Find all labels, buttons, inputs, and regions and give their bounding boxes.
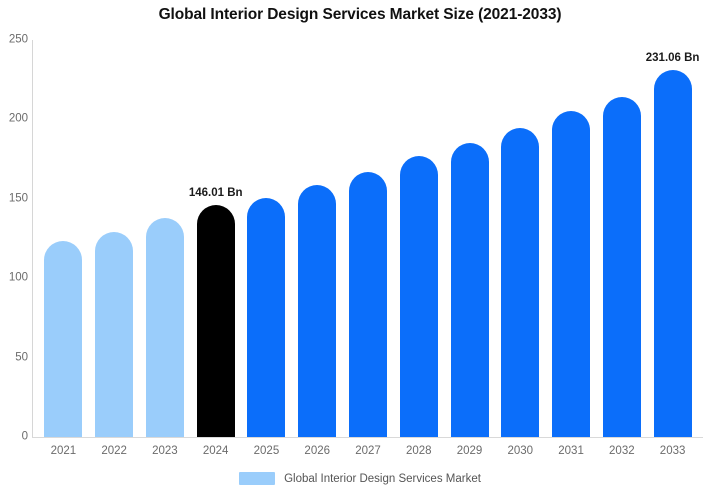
bar-2030[interactable]: [501, 128, 539, 437]
bar-2026[interactable]: [298, 185, 336, 437]
bar-2027[interactable]: [349, 172, 387, 437]
x-axis-tick-2024: 2024: [190, 443, 241, 459]
bar-group-2025[interactable]: [247, 40, 285, 437]
x-axis-line: [32, 437, 703, 438]
y-axis-tick-0: 0: [2, 431, 28, 443]
bar-2031[interactable]: [552, 111, 590, 437]
x-axis-tick-2021: 2021: [38, 443, 89, 459]
x-axis-tick-2032: 2032: [596, 443, 647, 459]
bar-value-label-2033: 231.06 Bn: [646, 52, 700, 64]
chart-legend: Global Interior Design Services Market: [0, 472, 720, 485]
y-axis-tick-100: 100: [2, 272, 28, 284]
bar-group-2028[interactable]: [400, 40, 438, 437]
bar-group-2032[interactable]: [603, 40, 641, 437]
x-axis-tick-2029: 2029: [444, 443, 495, 459]
legend-swatch-icon: [239, 472, 275, 485]
bar-group-2033[interactable]: 231.06 Bn: [654, 40, 692, 437]
y-axis-tick-50: 50: [2, 352, 28, 364]
bar-2023[interactable]: [146, 218, 184, 437]
bar-group-2021[interactable]: [44, 40, 82, 437]
chart-container: Global Interior Design Services Market S…: [0, 0, 720, 500]
bar-group-2026[interactable]: [298, 40, 336, 437]
bar-group-2031[interactable]: [552, 40, 590, 437]
y-axis-tick-150: 150: [2, 193, 28, 205]
chart-title: Global Interior Design Services Market S…: [0, 6, 720, 24]
bar-group-2027[interactable]: [349, 40, 387, 437]
bar-2024[interactable]: [197, 205, 235, 437]
y-axis-tick-250: 250: [2, 34, 28, 46]
x-axis-tick-2033: 2033: [647, 443, 698, 459]
bar-2029[interactable]: [451, 143, 489, 437]
x-axis-tick-2031: 2031: [546, 443, 597, 459]
bar-group-2029[interactable]: [451, 40, 489, 437]
bar-value-label-2024: 146.01 Bn: [189, 187, 243, 199]
plot-area: 146.01 Bn231.06 Bn: [32, 40, 702, 437]
y-axis-tick-labels: 050100150200250: [0, 40, 28, 438]
x-axis-tick-2022: 2022: [89, 443, 140, 459]
bar-2025[interactable]: [247, 198, 285, 437]
x-axis-tick-2028: 2028: [393, 443, 444, 459]
x-axis-tick-2030: 2030: [495, 443, 546, 459]
legend-label: Global Interior Design Services Market: [284, 473, 481, 485]
x-axis-tick-2023: 2023: [140, 443, 191, 459]
bar-group-2023[interactable]: [146, 40, 184, 437]
legend-item-0[interactable]: Global Interior Design Services Market: [239, 472, 481, 485]
bar-2032[interactable]: [603, 97, 641, 437]
y-axis-tick-200: 200: [2, 114, 28, 126]
bar-group-2024[interactable]: 146.01 Bn: [197, 40, 235, 437]
x-axis-tick-2027: 2027: [343, 443, 394, 459]
bar-group-2022[interactable]: [95, 40, 133, 437]
bar-2022[interactable]: [95, 232, 133, 437]
x-axis-tick-2026: 2026: [292, 443, 343, 459]
x-axis-tick-2025: 2025: [241, 443, 292, 459]
bar-2033[interactable]: [654, 70, 692, 437]
x-axis-tick-labels: 2021202220232024202520262027202820292030…: [32, 443, 702, 463]
bar-2028[interactable]: [400, 156, 438, 437]
bar-group-2030[interactable]: [501, 40, 539, 437]
bar-2021[interactable]: [44, 241, 82, 437]
